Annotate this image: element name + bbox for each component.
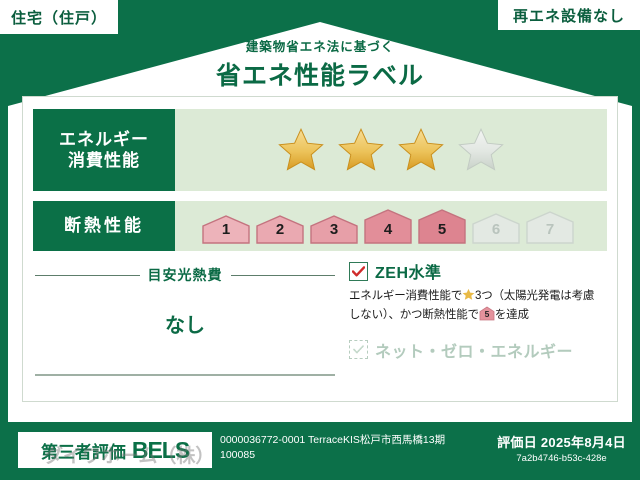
energy-label-line1: エネルギー [59,129,149,150]
zeh-desc-level-badge: 5 [479,306,495,321]
netzero-title: ネット・ゼロ・エネルギー [375,338,573,362]
evaluation-date-block: 評価日 2025年8月4日 7a2b4746-b53c-428e [497,432,626,464]
insulation-level-value: 2 [254,221,306,238]
renewable-energy-tag: 再エネ設備なし [498,0,640,30]
zeh-desc-part1: エネルギー消費性能で [349,290,462,302]
utility-cost-divider [35,374,335,376]
insulation-level-badge: 7 [524,210,576,244]
zeh-section: ZEH水準 エネルギー消費性能で3つ（太陽光発電は考慮しない）、かつ断熱性能で5… [335,259,605,376]
page-title: 建築物省エネ法に基づく 省エネ性能ラベル [0,36,640,92]
bels-logo-en: BELS [132,437,189,464]
energy-performance-label: エネルギー 消費性能 [33,109,175,191]
insulation-level-value: 4 [362,221,414,238]
insulation-level-badge: 3 [308,214,360,244]
zeh-desc-level-value: 5 [479,308,495,321]
utility-cost-heading-text: 目安光熱費 [148,265,223,285]
insulation-level-badge: 4 [362,208,414,244]
heading-rule-left [35,275,140,276]
insulation-label-text: 断熱性能 [64,215,144,236]
zeh-desc-part3: を達成 [495,309,529,321]
title-subtitle: 建築物省エネ法に基づく [0,36,640,55]
zeh-description: エネルギー消費性能で3つ（太陽光発電は考慮しない）、かつ断熱性能で5を達成 [349,288,605,325]
utility-cost-heading: 目安光熱費 [35,265,335,285]
evaluation-uuid: 7a2b4746-b53c-428e [497,453,626,464]
bels-logo-jp: 第三者評価 [41,438,126,463]
star-icon [462,288,475,301]
energy-performance-row: エネルギー 消費性能 [33,109,607,191]
star-rating [175,126,607,174]
energy-label-line2: 消費性能 [68,150,140,171]
building-type-tag: 住宅（住戸） [0,0,118,34]
zeh-checkbox[interactable] [349,262,368,281]
bels-logo: 第三者評価 BELS [18,432,212,468]
zeh-heading: ZEH水準 [349,259,605,283]
heading-rule-right [231,275,336,276]
insulation-level-value: 3 [308,221,360,238]
zeh-title: ZEH水準 [375,259,442,283]
check-icon-faded [353,345,364,354]
insulation-performance-row: 断熱性能 1234567 [33,201,607,251]
title-main: 省エネ性能ラベル [0,56,640,92]
evaluation-date: 評価日 2025年8月4日 [497,432,626,451]
netzero-heading: ネット・ゼロ・エネルギー [349,338,605,362]
star-filled-icon [336,126,386,174]
insulation-level-value: 6 [470,221,522,238]
check-icon [352,266,365,277]
utility-cost-value: なし [35,309,335,338]
insulation-level-badge: 1 [200,214,252,244]
insulation-level-value: 7 [524,221,576,238]
label-card: エネルギー 消費性能 断熱性能 1234567 目安光熱費 なし [22,96,618,402]
insulation-level-scale: 1234567 [175,208,607,244]
star-filled-icon [276,126,326,174]
star-empty-icon [456,126,506,174]
insulation-performance-label: 断熱性能 [33,201,175,251]
netzero-checkbox[interactable] [349,340,368,359]
footer-bar: 第三者評価 BELS 0000036772-0001 TerraceKIS松戸市… [0,422,640,480]
insulation-level-value: 5 [416,221,468,238]
lower-section: 目安光熱費 なし ZEH水準 エネルギー消費性能で3つ（太陽光発電は考慮しない）… [23,259,617,376]
insulation-level-badge: 2 [254,214,306,244]
renewable-energy-label: 再エネ設備なし [513,5,625,26]
utility-cost-section: 目安光熱費 なし [35,259,335,376]
insulation-level-value: 1 [200,221,252,238]
building-type-label: 住宅（住戸） [11,7,107,28]
certificate-number: 0000036772-0001 TerraceKIS松戸市西馬橋13期10008… [220,433,470,463]
insulation-level-badge: 5 [416,208,468,244]
insulation-level-badge: 6 [470,212,522,244]
star-filled-icon [396,126,446,174]
